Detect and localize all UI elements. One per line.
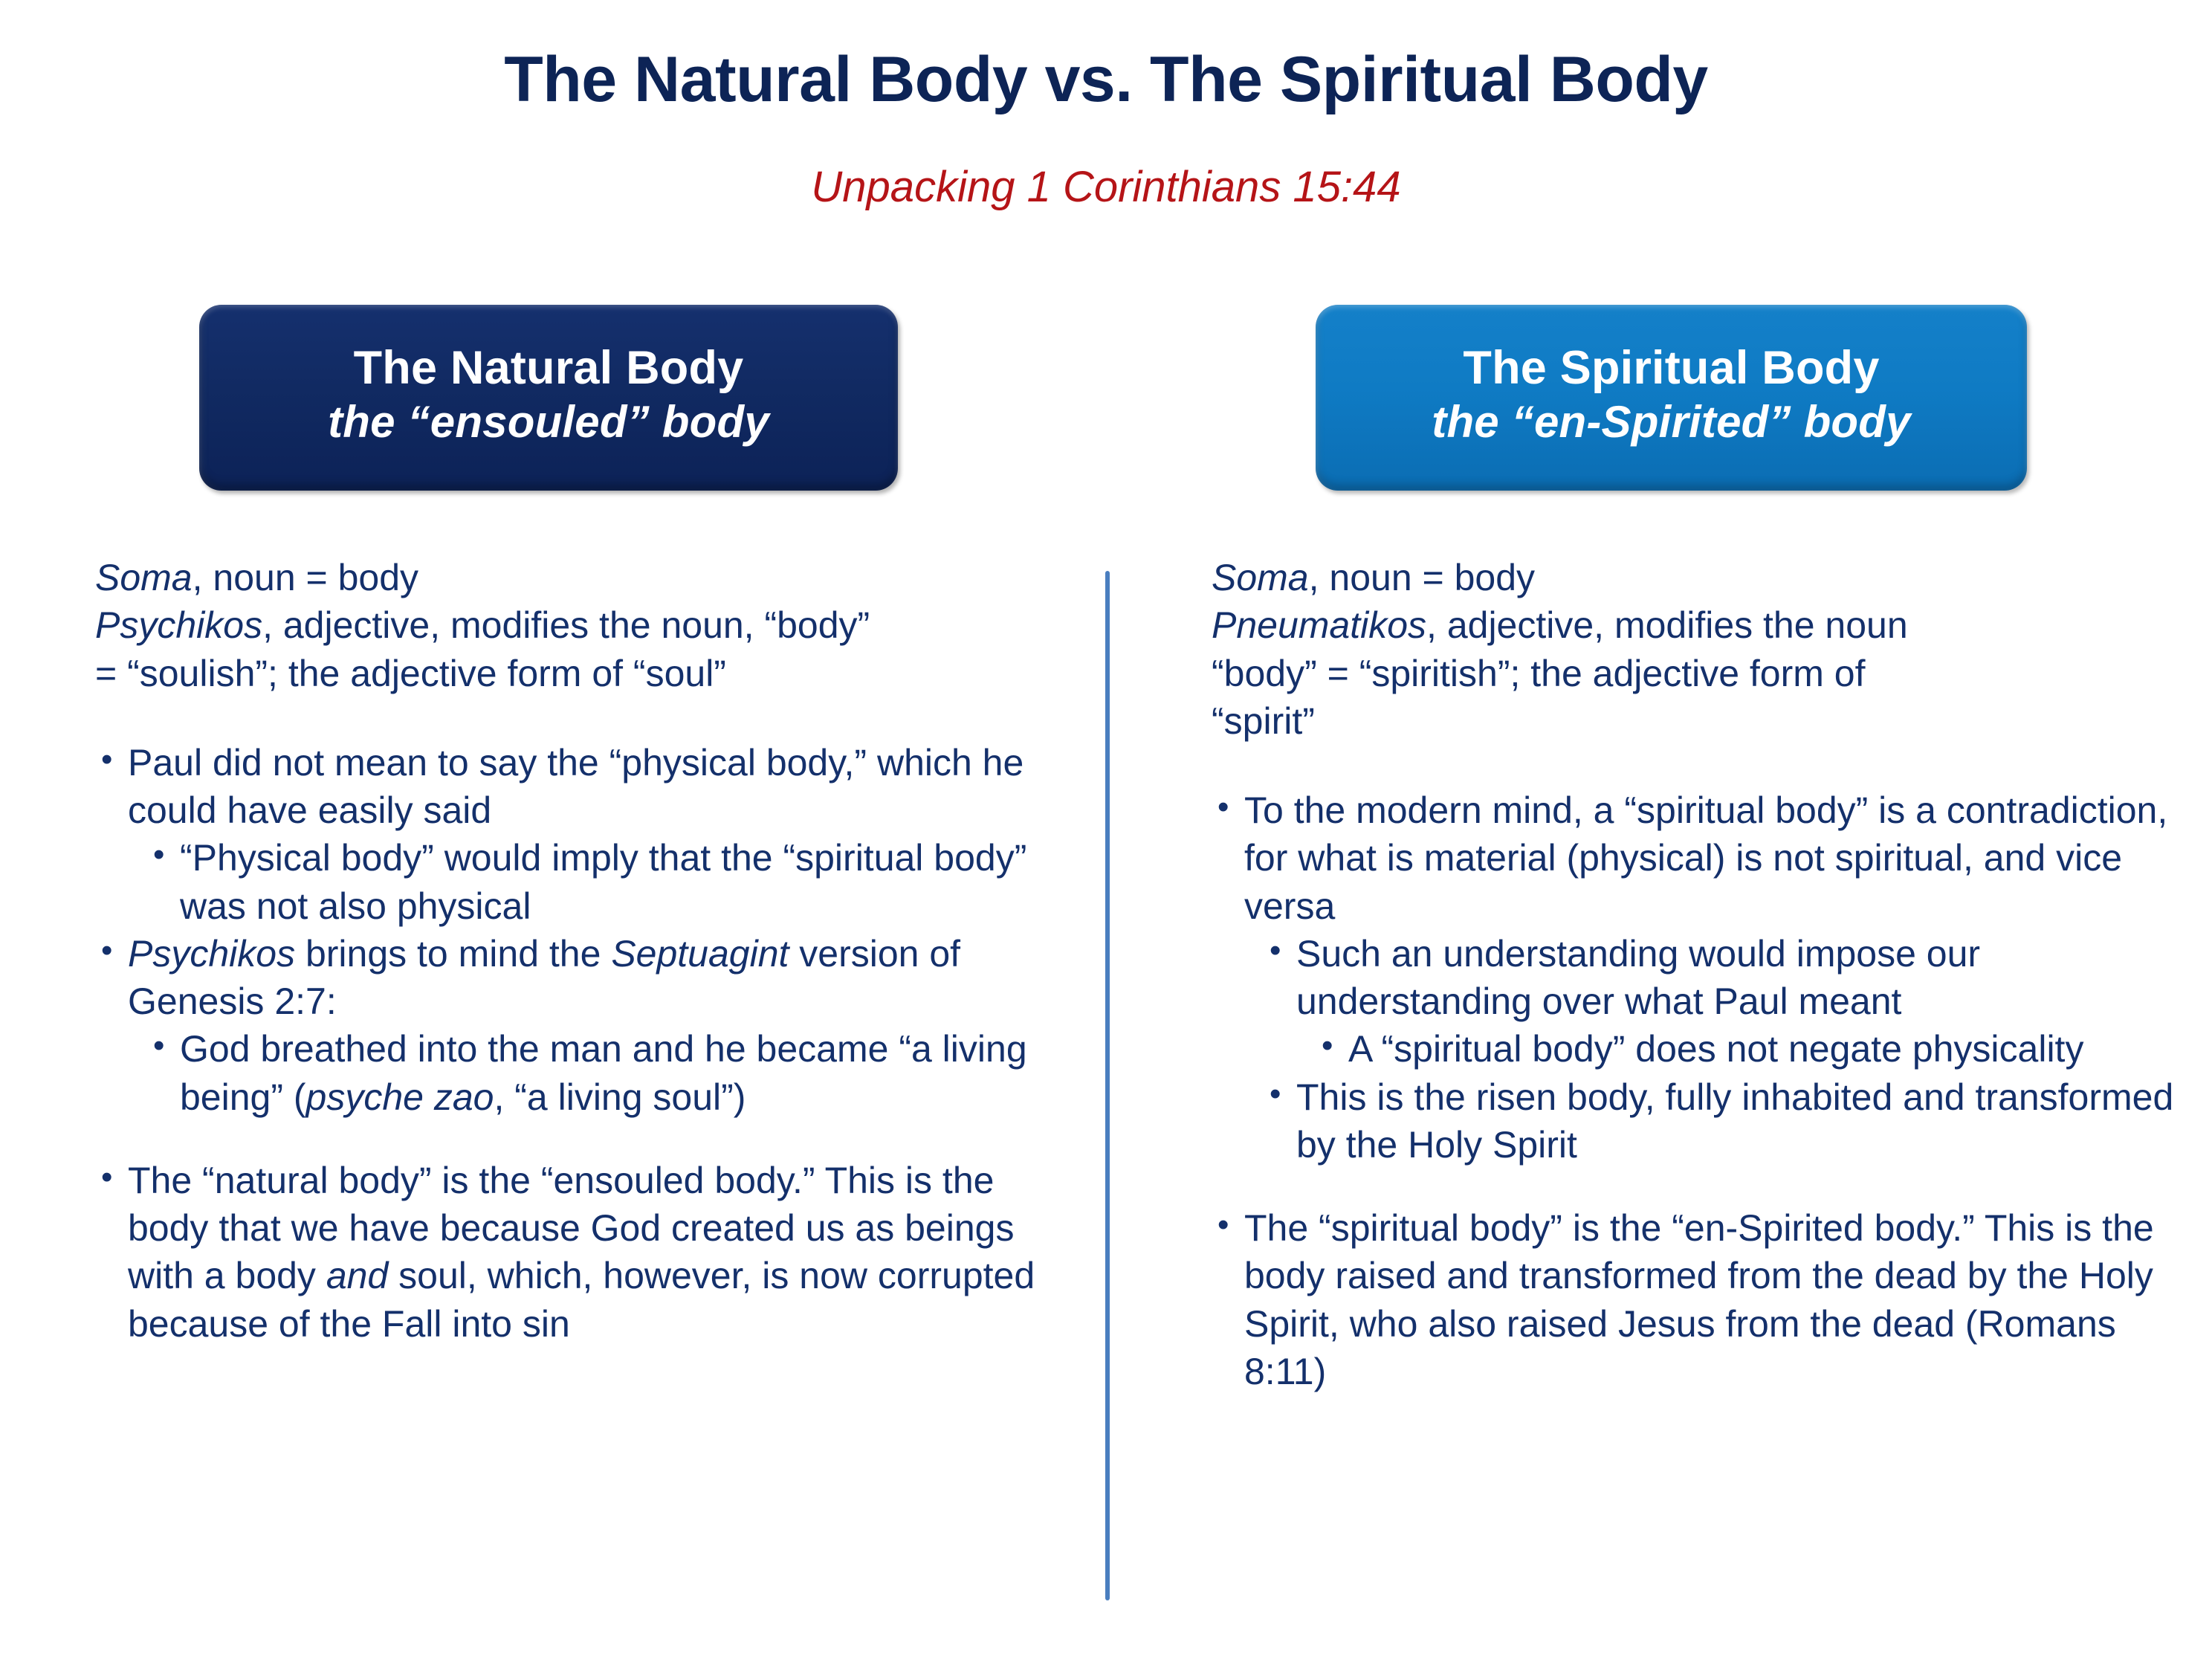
natural-body-header-subtitle: the “ensouled” body <box>328 396 769 449</box>
spacer <box>1212 745 2185 786</box>
bullet-text: Such an understanding would impose our u… <box>1296 933 1980 1022</box>
natural-body-bullet-list: •Paul did not mean to say the “physical … <box>95 739 1061 1121</box>
natural-body-column: Soma, noun = bodyPsychikos, adjective, m… <box>95 554 1061 1348</box>
column-divider <box>1105 571 1110 1600</box>
lead-line: Soma, noun = body <box>1212 554 2185 601</box>
bullet-icon: • <box>1322 1024 1333 1069</box>
bullet-icon: • <box>1270 1072 1281 1117</box>
natural-body-header-box: The Natural Body the “ensouled” body <box>199 305 898 491</box>
bullet-text: This is the risen body, fully inhabited … <box>1296 1076 2173 1166</box>
lead-line: Pneumatikos, adjective, modifies the nou… <box>1212 601 2185 649</box>
bullet-icon: • <box>1217 785 1229 830</box>
bullet-item: •Such an understanding would impose our … <box>1264 930 2185 1026</box>
bullet-item: •Paul did not mean to say the “physical … <box>95 739 1061 835</box>
spiritual-body-column: Soma, noun = bodyPneumatikos, adjective,… <box>1212 554 2185 1395</box>
spiritual-body-summary-list: •The “spiritual body” is the “en-Spirite… <box>1212 1204 2185 1395</box>
spacer <box>95 1121 1061 1157</box>
spiritual-body-bullet-list: •To the modern mind, a “spiritual body” … <box>1212 786 2185 1169</box>
spacer <box>1212 1169 2185 1204</box>
bullet-icon: • <box>153 1024 164 1069</box>
page-subtitle: Unpacking 1 Corinthians 15:44 <box>0 164 2212 211</box>
bullet-item: •The “spiritual body” is the “en-Spirite… <box>1212 1204 2185 1395</box>
bullet-item: •“Physical body” would imply that the “s… <box>147 834 1061 930</box>
natural-body-summary-list: •The “natural body” is the “ensouled bod… <box>95 1157 1061 1348</box>
spacer <box>95 697 1061 739</box>
bullet-text: “Physical body” would imply that the “sp… <box>180 837 1026 926</box>
bullet-item: •God breathed into the man and he became… <box>147 1025 1061 1121</box>
lead-line: = “soulish”; the adjective form of “soul… <box>95 650 1061 697</box>
bullet-text: Paul did not mean to say the “physical b… <box>128 742 1023 831</box>
natural-body-header-title: The Natural Body <box>354 340 744 395</box>
bullet-icon: • <box>1217 1203 1229 1248</box>
bullet-icon: • <box>101 928 112 974</box>
bullet-icon: • <box>101 1155 112 1201</box>
page-title: The Natural Body vs. The Spiritual Body <box>0 46 2212 114</box>
spiritual-body-header-subtitle: the “en-Spirited” body <box>1432 396 1910 449</box>
bullet-item: •The “natural body” is the “ensouled bod… <box>95 1157 1061 1348</box>
lead-line: Soma, noun = body <box>95 554 1061 601</box>
bullet-item: •This is the risen body, fully inhabited… <box>1264 1073 2185 1169</box>
bullet-icon: • <box>153 833 164 878</box>
bullet-text: The “spiritual body” is the “en-Spirited… <box>1244 1207 2154 1392</box>
bullet-text: To the modern mind, a “spiritual body” i… <box>1244 789 2167 927</box>
bullet-icon: • <box>101 737 112 783</box>
bullet-item: •To the modern mind, a “spiritual body” … <box>1212 786 2185 930</box>
bullet-text: A “spiritual body” does not negate physi… <box>1348 1028 2083 1070</box>
lead-line: “spirit” <box>1212 697 2185 745</box>
lead-line: Psychikos, adjective, modifies the noun,… <box>95 601 1061 649</box>
lead-line: “body” = “spiritish”; the adjective form… <box>1212 650 2185 697</box>
bullet-text: Psychikos brings to mind the Septuagint … <box>128 933 960 1022</box>
bullet-text: The “natural body” is the “ensouled body… <box>128 1160 1035 1345</box>
spiritual-body-header-title: The Spiritual Body <box>1463 340 1879 395</box>
bullet-icon: • <box>1270 928 1281 974</box>
bullet-text: God breathed into the man and he became … <box>180 1028 1027 1117</box>
bullet-item: •A “spiritual body” does not negate phys… <box>1316 1025 2185 1073</box>
spiritual-body-header-box: The Spiritual Body the “en-Spirited” bod… <box>1316 305 2027 491</box>
spiritual-body-lead: Soma, noun = bodyPneumatikos, adjective,… <box>1212 554 2185 745</box>
natural-body-lead: Soma, noun = bodyPsychikos, adjective, m… <box>95 554 1061 697</box>
bullet-item: •Psychikos brings to mind the Septuagint… <box>95 930 1061 1026</box>
